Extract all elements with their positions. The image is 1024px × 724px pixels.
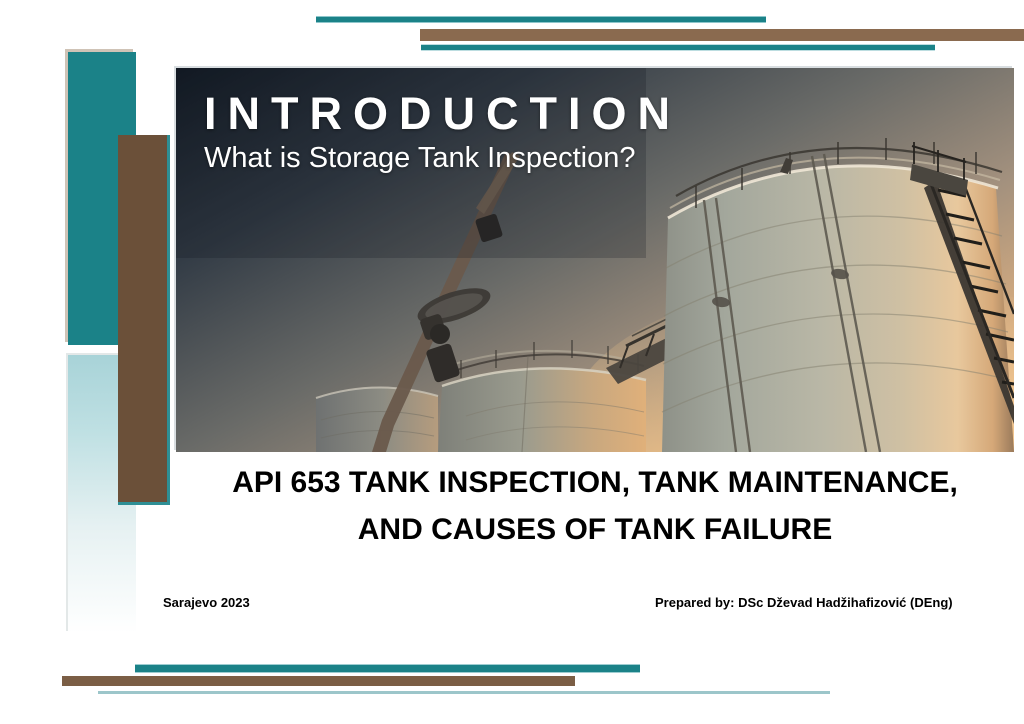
bottom-decorative-bar-brown [62,676,575,686]
footer-prepared-by: Prepared by: DSc Dževad Hadžihafizović (… [655,595,953,610]
storage-tank-photo: INTRODUCTION What is Storage Tank Inspec… [176,68,1014,452]
top-decorative-bar-teal-lower [421,44,935,51]
bottom-decorative-hairline-teal [98,691,830,694]
top-decorative-bar-brown [420,29,1024,41]
heading-line-2: AND CAUSES OF TANK FAILURE [176,507,1014,554]
storage-tank-illustration [176,68,1014,452]
footer-location-year: Sarajevo 2023 [163,595,250,610]
top-decorative-bar-teal-upper [316,16,766,23]
left-decorative-block-brown [118,135,170,505]
slide-main-heading: API 653 TANK INSPECTION, TANK MAINTENANC… [176,460,1014,553]
presentation-slide: INTRODUCTION What is Storage Tank Inspec… [0,0,1024,724]
bottom-decorative-bar-teal [135,664,640,673]
heading-line-1: API 653 TANK INSPECTION, TANK MAINTENANC… [176,460,1014,507]
